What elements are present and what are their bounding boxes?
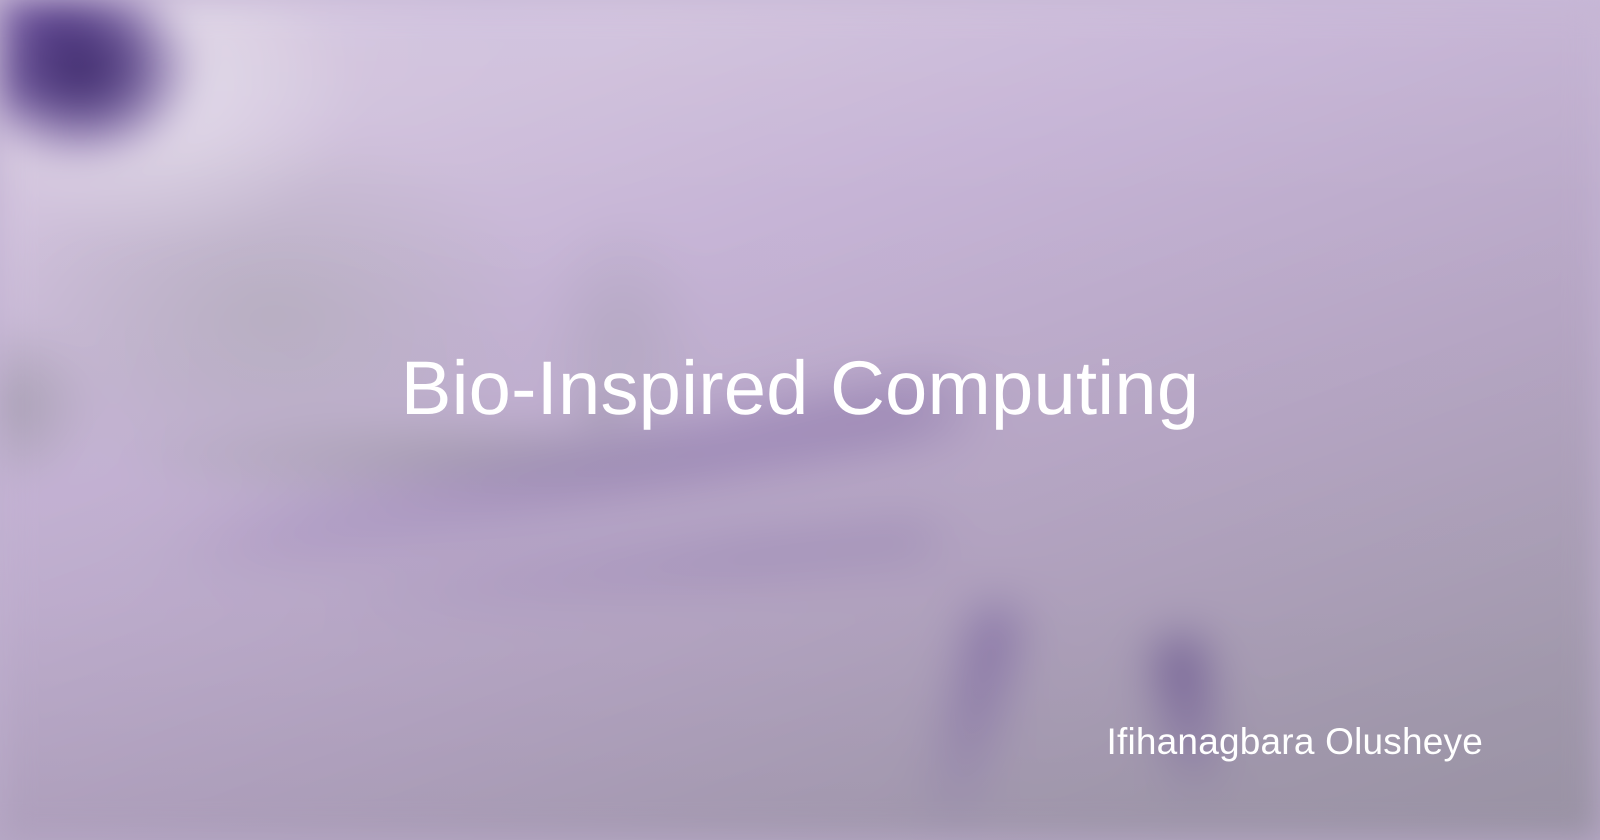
title-slide: Bio-Inspired Computing Ifihanagbara Olus…: [0, 0, 1600, 840]
slide-title: Bio-Inspired Computing: [0, 341, 1600, 437]
neuron-axon-primary: [925, 605, 1019, 838]
neuron-dendrite-secondary: [299, 523, 938, 616]
neuron-axon-secondary: [1155, 638, 1221, 793]
slide-author: Ifihanagbara Olusheye: [1106, 718, 1483, 766]
